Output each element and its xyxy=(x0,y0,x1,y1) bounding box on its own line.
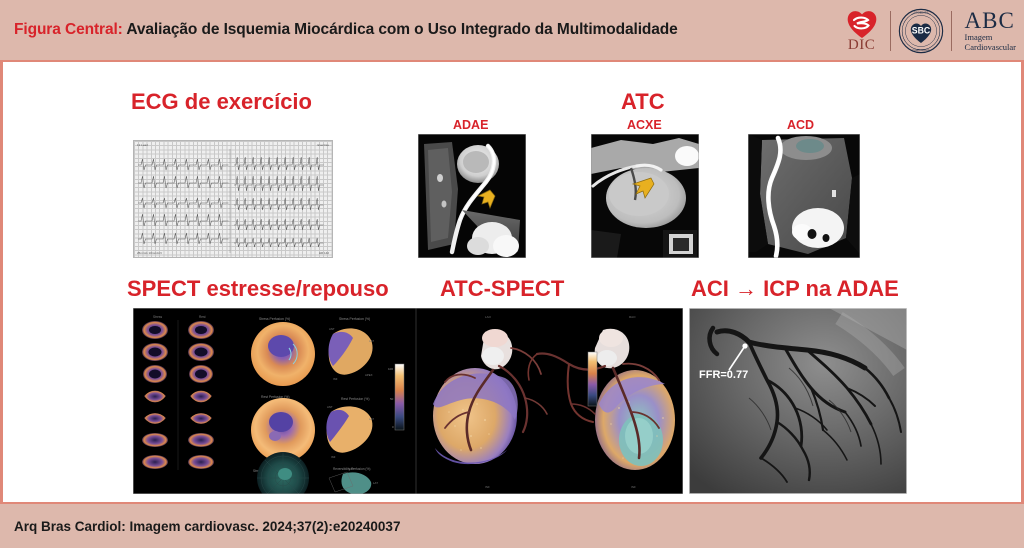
heading-aci-icp: ACI → ICP na ADAE xyxy=(691,276,899,302)
svg-text:Stress Perfusion (%): Stress Perfusion (%) xyxy=(259,317,290,321)
logo-divider-2 xyxy=(951,11,952,51)
svg-text:ANT: ANT xyxy=(349,467,355,471)
svg-text:APEX: APEX xyxy=(365,373,373,377)
heading-spect: SPECT estresse/repouso xyxy=(127,276,389,302)
figure-central-page: Figura Central: Avaliação de Isquemia Mi… xyxy=(0,0,1024,548)
svg-text:50: 50 xyxy=(390,397,394,401)
svg-text:Rest Perfusion (%): Rest Perfusion (%) xyxy=(341,397,369,401)
abc-sub-line-2: Cardiovascular xyxy=(965,43,1016,53)
ct-panel-acd xyxy=(748,134,860,258)
spect-fusion-panel: StressRest xyxy=(133,308,683,494)
ct-acd-image xyxy=(748,134,860,258)
spect-slice-grid: StressRest xyxy=(142,315,214,470)
angiography-image: FFR=0.77 xyxy=(689,308,907,494)
journal-citation: Arq Bras Cardiol: Imagem cardiovasc. 202… xyxy=(14,519,400,534)
logo-divider-1 xyxy=(890,11,891,51)
ct-panel-adae xyxy=(418,134,526,258)
ecg-traces xyxy=(134,141,333,258)
dic-logo-label: DIC xyxy=(848,37,875,54)
svg-text:CARDIOLOGIA: CARDIOLOGIA xyxy=(912,49,930,52)
svg-text:RAO: RAO xyxy=(629,315,636,319)
title-lead-label: Figura Central: xyxy=(14,21,123,38)
abc-logo-label: ABC xyxy=(965,9,1016,32)
svg-text:LAO: LAO xyxy=(485,315,492,319)
figure-body: ECG de exercício ADAE ATC ACXE ACD xyxy=(0,62,1024,502)
svg-text:SBC: SBC xyxy=(911,25,930,35)
dic-logo: DIC xyxy=(841,9,883,54)
svg-text:Rest: Rest xyxy=(199,315,206,319)
svg-text:Stress Perfusion (%): Stress Perfusion (%) xyxy=(339,317,370,321)
svg-text:LAT: LAT xyxy=(369,417,374,421)
header-logos: DIC SBC SOCIEDADE CARDIOLOGIA ABC Imagem xyxy=(841,6,1016,56)
heading-atc: ATC xyxy=(621,89,665,115)
abc-logo: ABC Imagem Cardiovascular xyxy=(959,9,1016,53)
label-acxe: ACXE xyxy=(627,118,662,132)
sbc-seal-icon: SBC SOCIEDADE CARDIOLOGIA xyxy=(898,8,944,54)
ecg-corner-left: 12 Lead xyxy=(137,143,148,147)
svg-text:INF: INF xyxy=(631,485,636,489)
heading-atc-spect: ATC-SPECT xyxy=(440,276,564,302)
ct-adae-image xyxy=(418,134,526,258)
heading-ecg: ECG de exercício xyxy=(131,89,312,115)
title-main-text: Avaliação de Isquemia Miocárdica com o U… xyxy=(123,21,678,38)
svg-text:INF: INF xyxy=(331,455,336,459)
svg-text:ANT: ANT xyxy=(327,405,333,409)
ct-acxe-image xyxy=(591,134,699,258)
ct-panel-acxe xyxy=(591,134,699,258)
ffr-value-label: FFR=0.77 xyxy=(699,369,748,381)
heart-icon xyxy=(845,9,879,39)
svg-text:LAT: LAT xyxy=(373,481,378,485)
header-band: Figura Central: Avaliação de Isquemia Mi… xyxy=(0,0,1024,62)
spect-fusion-image: StressRest xyxy=(133,308,683,494)
ecg-corner-right: Exercise xyxy=(317,143,329,147)
svg-text:INF: INF xyxy=(485,485,490,489)
svg-text:ANT: ANT xyxy=(329,327,335,331)
footer-band: Arq Bras Cardiol: Imagem cardiovasc. 202… xyxy=(0,502,1024,548)
ecg-panel: 12 Lead Exercise 25mm/s 10mm/mV HR 142 xyxy=(133,140,333,258)
page-title: Figura Central: Avaliação de Isquemia Mi… xyxy=(14,21,678,39)
svg-text:INF: INF xyxy=(333,377,338,381)
svg-text:LAT: LAT xyxy=(369,339,374,343)
label-acd: ACD xyxy=(787,118,814,132)
svg-text:100: 100 xyxy=(388,367,393,371)
ecg-bottom-left: 25mm/s 10mm/mV xyxy=(137,251,162,255)
fusion-color-scale xyxy=(588,352,597,406)
label-adae: ADAE xyxy=(453,118,488,132)
angiography-panel: FFR=0.77 xyxy=(689,308,907,494)
svg-text:SOCIEDADE: SOCIEDADE xyxy=(913,12,928,15)
svg-text:Stress: Stress xyxy=(153,315,162,319)
ecg-bottom-right: HR 142 xyxy=(319,251,329,255)
